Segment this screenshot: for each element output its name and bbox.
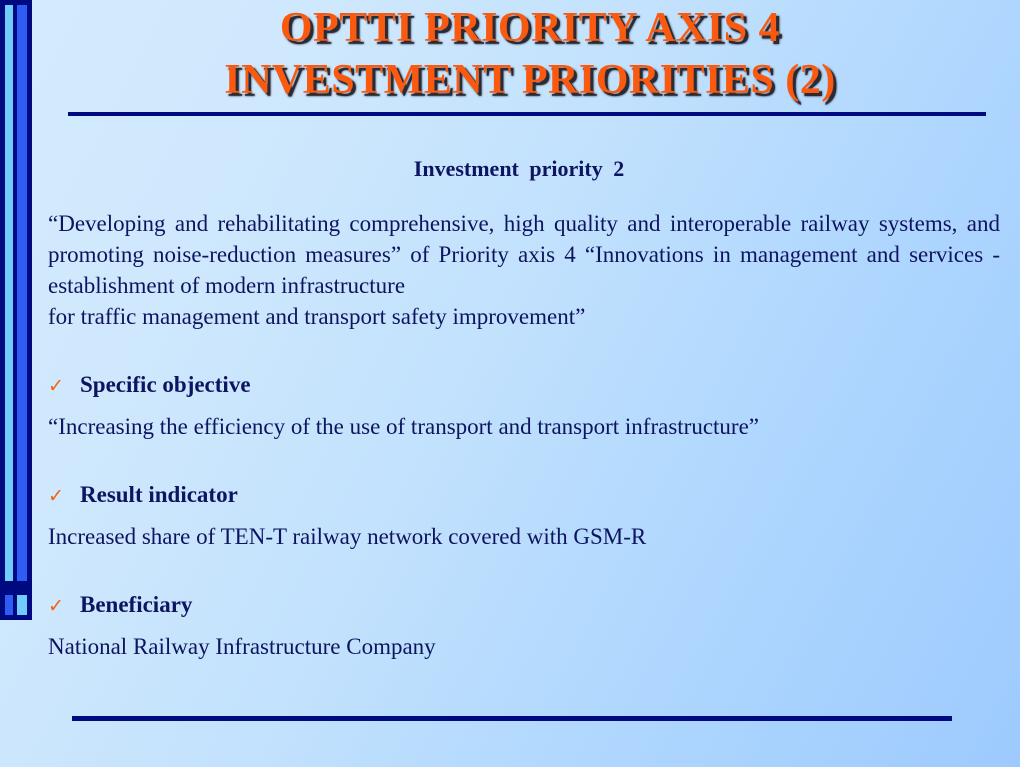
- section-text: Increased share of TEN-T railway network…: [48, 522, 1000, 552]
- section-label: Result indicator: [80, 482, 238, 508]
- lead-paragraph-body: “Developing and rehabilitating comprehen…: [48, 208, 1000, 301]
- lead-paragraph-tail: for traffic management and transport saf…: [48, 301, 1000, 332]
- footer-rule: [72, 716, 952, 721]
- sidebar-decoration: [0, 0, 32, 620]
- sidebar-square-cyan: [17, 595, 27, 615]
- section-text: “Increasing the efficiency of the use of…: [48, 412, 1000, 442]
- section-label: Beneficiary: [80, 592, 192, 618]
- sidebar-bar-cyan: [5, 5, 13, 581]
- title-underline-rule: [68, 112, 986, 116]
- slide-title-line-2: INVESTMENT PRIORITIES (2): [60, 54, 1000, 106]
- section-result-indicator: ✓ Result indicator Increased share of TE…: [48, 482, 1000, 552]
- check-icon: ✓: [48, 484, 80, 510]
- slide-title: OPTTI PRIORITY AXIS 4 INVESTMENT PRIORIT…: [60, 2, 1000, 106]
- section-beneficiary: ✓ Beneficiary National Railway Infrastru…: [48, 592, 1000, 662]
- slide-title-line-1: OPTTI PRIORITY AXIS 4: [60, 2, 1000, 54]
- sidebar-square-blue: [5, 595, 13, 615]
- section-text: National Railway Infrastructure Company: [48, 632, 1000, 662]
- subheading: Investment priority 2: [48, 156, 990, 182]
- sidebar-bar-blue: [17, 5, 27, 581]
- section-label: Specific objective: [80, 372, 251, 398]
- check-icon: ✓: [48, 374, 80, 400]
- bullet-row: ✓ Result indicator: [48, 482, 1000, 510]
- slide-canvas: OPTTI PRIORITY AXIS 4 INVESTMENT PRIORIT…: [0, 0, 1020, 767]
- lead-paragraph: “Developing and rehabilitating comprehen…: [48, 208, 1000, 332]
- check-icon: ✓: [48, 594, 80, 620]
- bullet-row: ✓ Specific objective: [48, 372, 1000, 400]
- bullet-row: ✓ Beneficiary: [48, 592, 1000, 620]
- section-specific-objective: ✓ Specific objective “Increasing the eff…: [48, 372, 1000, 442]
